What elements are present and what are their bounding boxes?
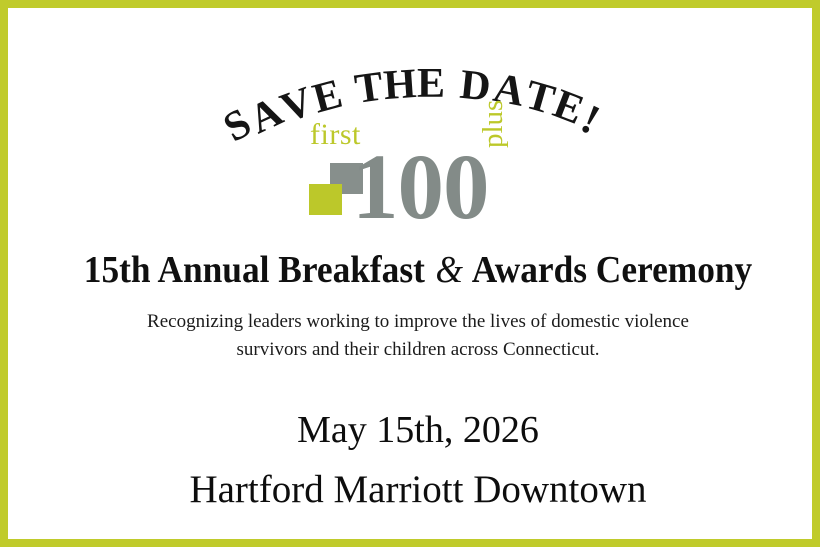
event-venue: Hartford Marriott Downtown [8, 466, 820, 514]
arch-letter: T [352, 65, 386, 110]
event-title: 15th Annual Breakfast & Awards Ceremony [37, 248, 800, 292]
arch-letter: H [382, 63, 418, 107]
save-the-date-card: SAVETHEDATE! first 100 plus 15th Annual … [0, 0, 820, 547]
tagline-line-2: survivors and their children across Conn… [8, 336, 820, 364]
tagline-line-1: Recognizing leaders working to improve t… [8, 308, 820, 336]
arch-letter: E [417, 63, 445, 105]
first100plus-logo: first 100 plus [8, 120, 820, 238]
event-tagline: Recognizing leaders working to improve t… [8, 308, 820, 364]
logo-word-number: 100 [352, 141, 489, 234]
event-title-part-1: 15th Annual Breakfast [84, 249, 434, 291]
logo-inner: first 100 plus [294, 120, 542, 238]
logo-word-plus: plus [481, 74, 505, 148]
event-date: May 15th, 2026 [8, 407, 820, 453]
arched-headline: SAVETHEDATE! [8, 36, 820, 128]
ampersand-glyph: & [434, 249, 465, 291]
event-title-part-2: Awards Ceremony [465, 249, 752, 291]
logo-olive-square-icon [309, 184, 342, 215]
